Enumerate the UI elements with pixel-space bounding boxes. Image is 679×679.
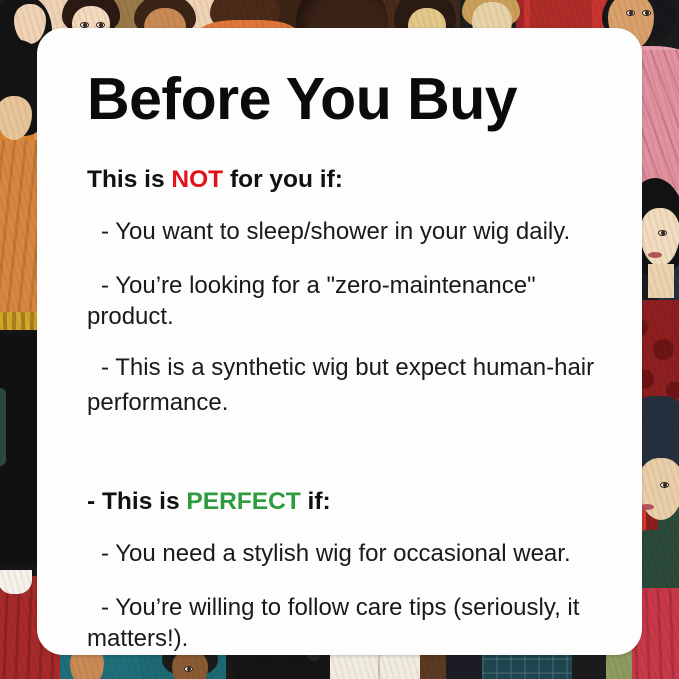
page-title: Before You Buy xyxy=(87,50,620,129)
list-item: - You need a stylish wig for occasional … xyxy=(87,538,620,569)
list-item: - You want to sleep/shower in your wig d… xyxy=(87,216,620,247)
heading-text-suffix: for you if: xyxy=(223,166,343,193)
card-content: Before You Buy This is NOT for you if: -… xyxy=(87,50,620,654)
section-spacer xyxy=(87,421,620,451)
content-card: Before You Buy This is NOT for you if: -… xyxy=(37,28,642,655)
heading-text-suffix: if: xyxy=(301,488,331,515)
keyword-perfect: PERFECT xyxy=(186,488,300,515)
heading-text-prefix: This is xyxy=(87,166,171,193)
heading-text-prefix: - This is xyxy=(87,488,186,515)
list-item: - You’re looking for a "zero-maintenance… xyxy=(87,270,620,332)
list-item: - This is a synthetic wig but expect hum… xyxy=(87,350,620,421)
poster-canvas: Before You Buy This is NOT for you if: -… xyxy=(0,0,679,679)
section-heading-not: This is NOT for you if: xyxy=(87,165,620,194)
list-item: - You’re willing to follow care tips (se… xyxy=(87,592,620,654)
section-heading-perfect: - This is PERFECT if: xyxy=(87,487,620,516)
keyword-not: NOT xyxy=(171,166,223,193)
